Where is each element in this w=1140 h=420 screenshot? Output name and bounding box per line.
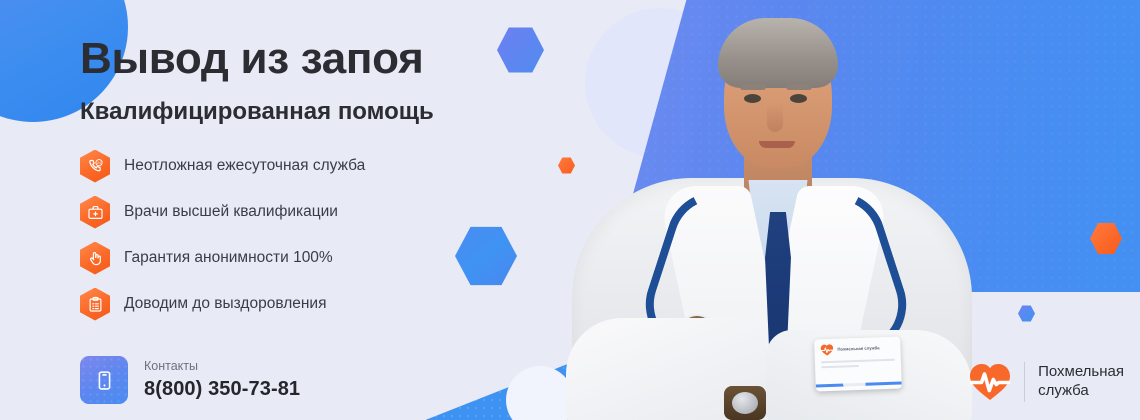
doctor-eyebrow <box>786 84 812 90</box>
svg-text:24: 24 <box>97 161 101 165</box>
contacts-block[interactable]: Контакты 8(800) 350-73-81 <box>80 356 300 404</box>
page-subtitle: Квалифицированная помощь <box>80 98 434 126</box>
doctor-eye <box>744 94 761 103</box>
medical-bag-icon <box>80 196 110 229</box>
list-item: Доводим до выздоровления <box>80 282 365 326</box>
doctor-id-badge: Похмельная служба <box>814 337 902 392</box>
doctor-mouth <box>759 141 795 148</box>
anonymity-hand-icon <box>80 242 110 275</box>
badge-line <box>821 359 895 364</box>
doctor-nose <box>767 104 783 132</box>
banner-content: Вывод из запоя Квалифицированная помощь … <box>0 0 560 420</box>
hexagon-blue-decoration <box>1018 305 1035 322</box>
badge-org-name: Похмельная служба <box>837 346 879 353</box>
list-item: Врачи высшей квалификации <box>80 190 365 234</box>
mobile-phone-icon <box>80 356 128 404</box>
feature-label: Доводим до выздоровления <box>124 295 326 313</box>
contacts-text: Контакты 8(800) 350-73-81 <box>144 360 300 400</box>
doctor-hair <box>718 18 838 88</box>
phone-24h-icon: 24 <box>80 150 110 183</box>
list-item: Гарантия анонимности 100% <box>80 236 365 280</box>
contacts-label: Контакты <box>144 360 300 374</box>
badge-text-lines <box>821 359 895 369</box>
doctor-photo: Похмельная служба <box>560 0 1000 420</box>
feature-list: 24 Неотложная ежесуточная служба Врачи в… <box>80 144 365 328</box>
heart-pulse-icon <box>969 363 1011 401</box>
feature-label: Гарантия анонимности 100% <box>124 249 333 267</box>
clipboard-checklist-icon <box>80 288 110 321</box>
logo-brand-name: Похмельная служба <box>1038 363 1124 401</box>
logo-divider <box>1024 362 1025 402</box>
doctor-wristwatch <box>724 386 766 420</box>
list-item: 24 Неотложная ежесуточная служба <box>80 144 365 188</box>
feature-label: Неотложная ежесуточная служба <box>124 157 365 175</box>
badge-header: Похмельная служба <box>820 342 894 357</box>
doctor-eye <box>790 94 807 103</box>
badge-footer-bar <box>816 381 902 387</box>
badge-line <box>821 365 860 368</box>
feature-label: Врачи высшей квалификации <box>124 203 338 221</box>
heart-pulse-icon <box>820 344 833 356</box>
doctor-eyebrow <box>740 84 766 90</box>
promo-banner: Похмельная служба Вывод из запоя Квалифи… <box>0 0 1140 420</box>
contacts-phone-number[interactable]: 8(800) 350-73-81 <box>144 378 300 400</box>
brand-logo[interactable]: Похмельная служба <box>969 362 1124 402</box>
page-title: Вывод из запоя <box>80 36 424 82</box>
